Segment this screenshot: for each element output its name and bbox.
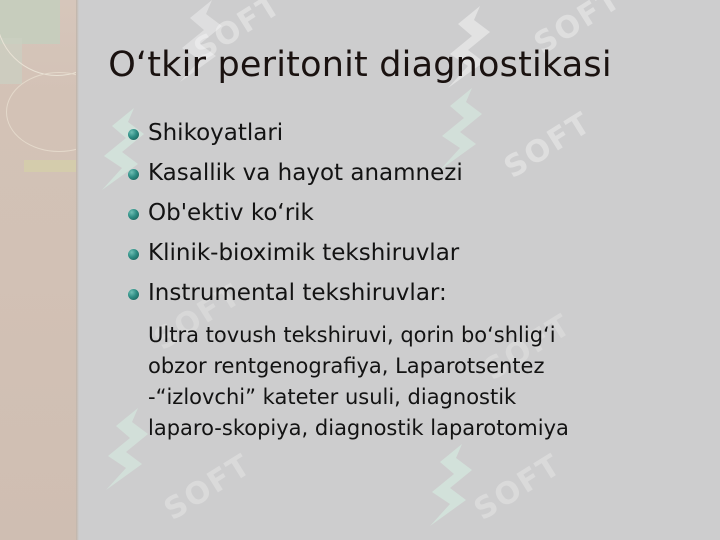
strip-accent-band [24,160,78,172]
bullet-dot-icon [128,209,139,220]
watermark-logo-icon [420,440,484,532]
watermark-text: SOFT [468,447,568,528]
bullet-dot-icon [128,129,139,140]
slide-title: O‘tkir peritonit diagnostikasi [0,44,720,86]
list-item: Instrumental tekshiruvlar: [120,278,700,309]
list-item: Ob'ektiv ko‘rik [120,198,700,229]
list-item-label: Klinik-bioximik tekshiruvlar [148,240,459,266]
detail-paragraph: Ultra tovush tekshiruvi, qorin bo‘shlig‘… [120,320,708,444]
bullet-dot-icon [128,169,139,180]
list-item-label: Kasallik va hayot anamnezi [148,160,463,186]
slide-content: Shikoyatlari Kasallik va hayot anamnezi … [120,118,700,444]
watermark-text: SOFT [158,447,258,528]
list-item-label: Ob'ektiv ko‘rik [148,200,314,226]
list-item: Klinik-bioximik tekshiruvlar [120,238,700,269]
slide-canvas: SOFT SOFT SOFT SOFT SOFT SOFT SOFT O‘tki… [0,0,720,540]
list-item: Kasallik va hayot anamnezi [120,158,700,189]
list-item: Shikoyatlari [120,118,700,149]
list-item-label: Shikoyatlari [148,120,283,146]
bullet-list: Shikoyatlari Kasallik va hayot anamnezi … [120,118,700,309]
bullet-dot-icon [128,249,139,260]
list-item-label: Instrumental tekshiruvlar: [148,280,447,306]
bullet-dot-icon [128,289,139,300]
